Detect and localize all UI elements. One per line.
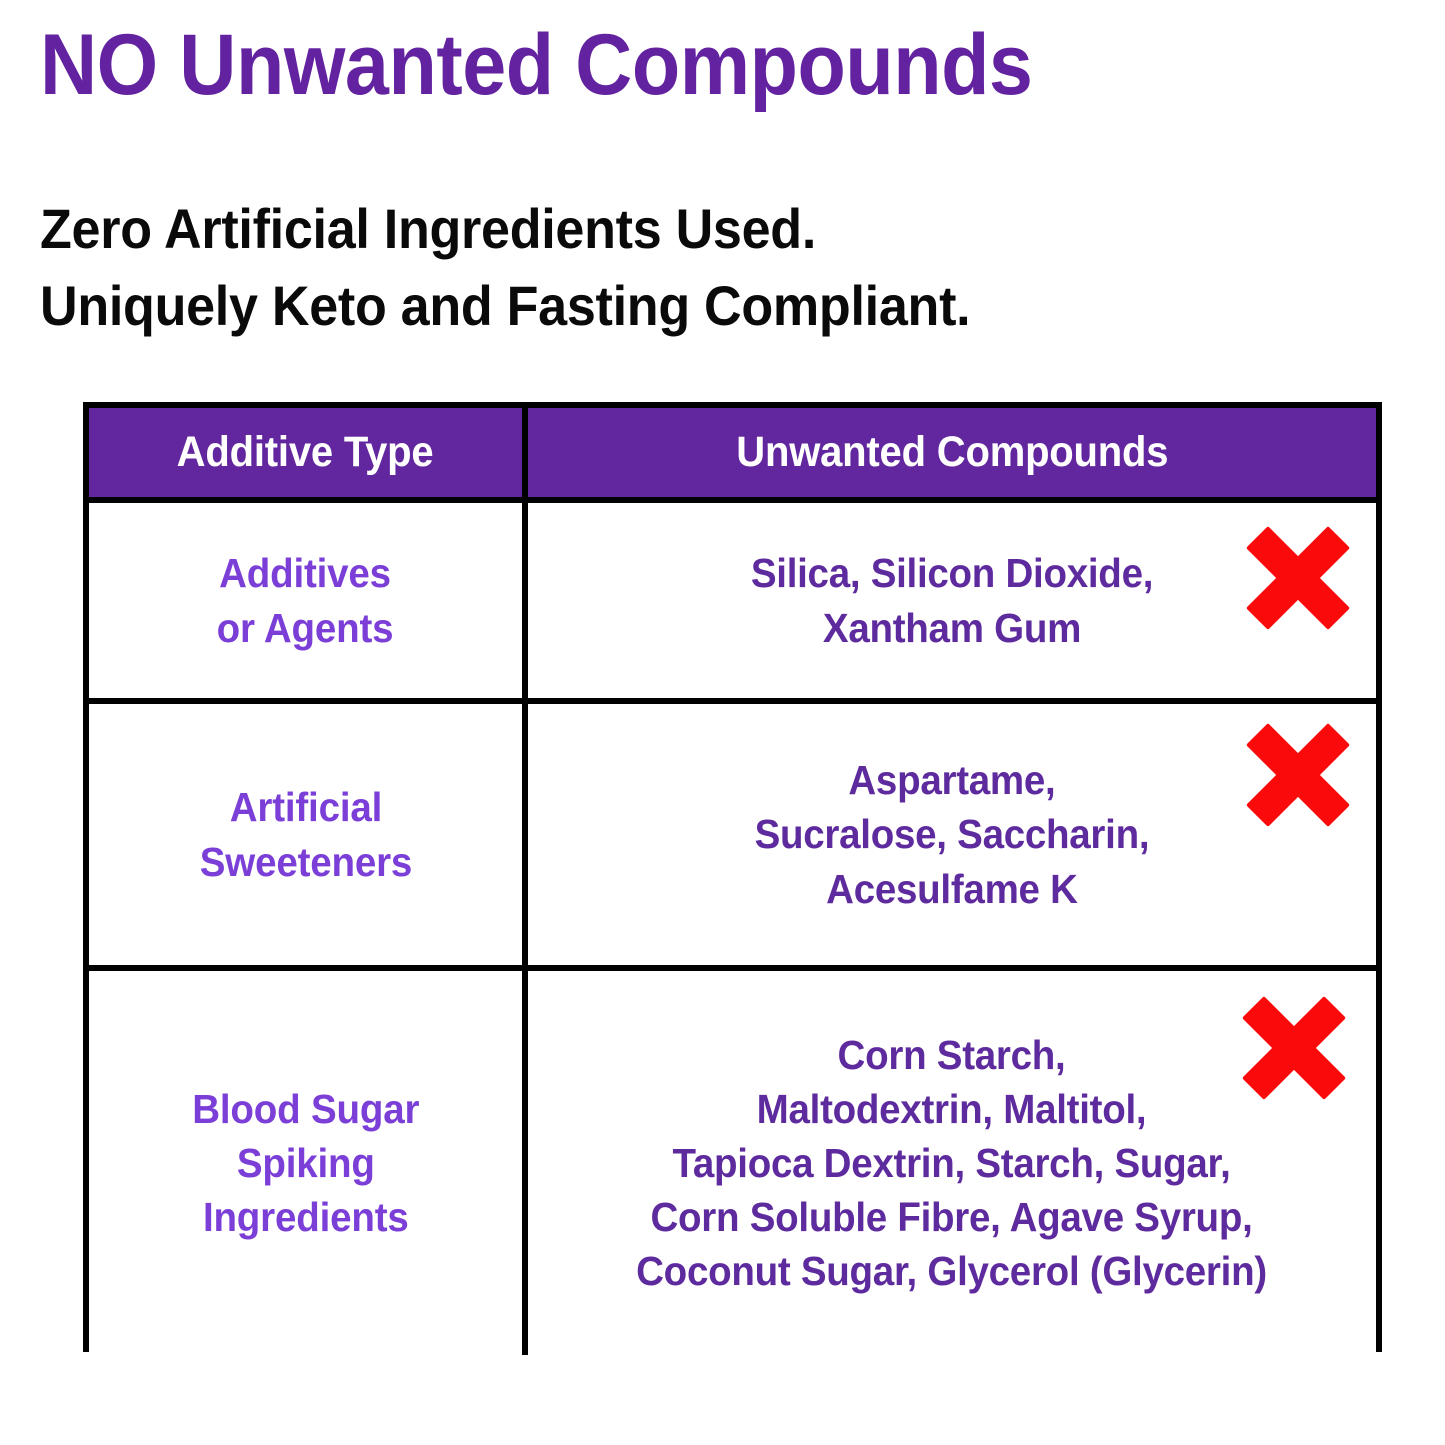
table-row: Additives or Agents Silica, Silicon Diox… (89, 500, 1376, 701)
x-mark-stroke (1246, 526, 1350, 630)
additive-type-line: Spiking (192, 1136, 419, 1190)
compound-line: Silica, Silicon Dioxide, (751, 546, 1153, 600)
compound-line: Xantham Gum (751, 601, 1153, 655)
additive-type-text: Artificial Sweeteners (199, 780, 411, 888)
unwanted-compounds-text: Corn Starch, Maltodextrin, Maltitol, Tap… (637, 1028, 1268, 1299)
column-header-unwanted-compounds-label: Unwanted Compounds (736, 428, 1168, 477)
column-header-additive-type: Additive Type (89, 408, 525, 500)
compound-line: Corn Starch, (637, 1028, 1268, 1082)
compound-line: Aspartame, (755, 753, 1150, 807)
table-header-row: Additive Type Unwanted Compounds (89, 408, 1376, 500)
page-title: NO Unwanted Compounds (40, 22, 1032, 108)
unwanted-compounds-table: Additive Type Unwanted Compounds Additiv… (89, 408, 1376, 1355)
subtitle-line-1: Zero Artificial Ingredients Used. (40, 190, 970, 267)
table-row: Blood Sugar Spiking Ingredients Corn Sta… (89, 968, 1376, 1355)
additive-type-text: Additives or Agents (217, 546, 394, 654)
additive-type-line: Blood Sugar (192, 1082, 419, 1136)
compound-line: Corn Soluble Fibre, Agave Syrup, (637, 1190, 1268, 1244)
cell-unwanted-compounds: Silica, Silicon Dioxide, Xantham Gum (525, 500, 1376, 701)
table-header: Additive Type Unwanted Compounds (89, 408, 1376, 500)
additive-type-line: Artificial (199, 780, 411, 834)
cell-additive-type: Additives or Agents (89, 500, 525, 701)
cell-additive-type: Blood Sugar Spiking Ingredients (89, 968, 525, 1355)
column-header-unwanted-compounds: Unwanted Compounds (525, 408, 1376, 500)
additive-type-text: Blood Sugar Spiking Ingredients (192, 1082, 419, 1244)
x-mark-stroke (1246, 526, 1350, 630)
additive-type-line: or Agents (217, 601, 394, 655)
x-mark-stroke (1246, 723, 1350, 827)
cell-additive-type: Artificial Sweeteners (89, 701, 525, 968)
subtitle-line-2: Uniquely Keto and Fasting Compliant. (40, 267, 970, 344)
unwanted-compounds-text: Silica, Silicon Dioxide, Xantham Gum (751, 546, 1153, 654)
compound-line: Sucralose, Saccharin, (755, 807, 1150, 861)
x-mark-icon (1245, 525, 1350, 630)
compound-line: Coconut Sugar, Glycerol (Glycerin) (637, 1244, 1268, 1298)
x-mark-icon (1245, 722, 1350, 827)
compound-line: Tapioca Dextrin, Starch, Sugar, (637, 1136, 1268, 1190)
x-mark-stroke (1246, 723, 1350, 827)
additive-type-line: Additives (217, 546, 394, 600)
cell-unwanted-compounds: Corn Starch, Maltodextrin, Maltitol, Tap… (525, 968, 1376, 1355)
additive-type-line: Ingredients (192, 1190, 419, 1244)
cell-unwanted-compounds: Aspartame, Sucralose, Saccharin, Acesulf… (525, 701, 1376, 968)
table-row: Artificial Sweeteners Aspartame, Sucralo… (89, 701, 1376, 968)
table-body: Additives or Agents Silica, Silicon Diox… (89, 500, 1376, 1355)
unwanted-compounds-table-container: Additive Type Unwanted Compounds Additiv… (83, 402, 1382, 1352)
compound-line: Maltodextrin, Maltitol, (637, 1082, 1268, 1136)
column-header-additive-type-label: Additive Type (177, 428, 434, 477)
page-subtitle: Zero Artificial Ingredients Used. Unique… (40, 190, 970, 345)
unwanted-compounds-text: Aspartame, Sucralose, Saccharin, Acesulf… (755, 753, 1150, 915)
additive-type-line: Sweeteners (199, 835, 411, 889)
compound-line: Acesulfame K (755, 862, 1150, 916)
